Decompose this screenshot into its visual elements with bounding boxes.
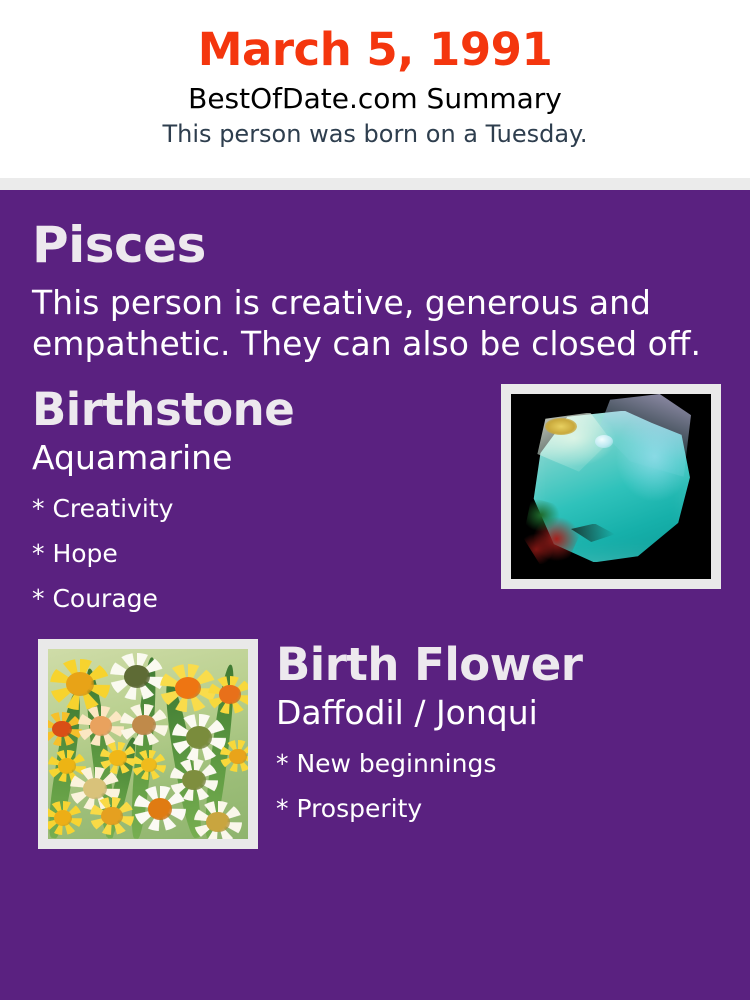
daffodil-bloom bbox=[160, 664, 216, 712]
birthstone-title: Birthstone bbox=[32, 384, 501, 436]
daffodil-bloom bbox=[134, 786, 186, 832]
birthstone-text-column: Birthstone Aquamarine * Creativity * Hop… bbox=[0, 384, 501, 621]
daffodil-bloom bbox=[132, 750, 166, 780]
aquamarine-crystal-image bbox=[511, 394, 711, 579]
daffodil-bloom bbox=[172, 714, 226, 762]
birth-flower-title: Birth Flower bbox=[276, 639, 750, 691]
daffodil-bloom bbox=[78, 706, 124, 746]
site-name-subtitle: BestOfDate.com Summary bbox=[0, 80, 750, 118]
zodiac-section: Pisces This person is creative, generous… bbox=[0, 190, 750, 364]
crystal-bubble-highlight bbox=[595, 435, 613, 448]
daffodil-bloom bbox=[110, 653, 164, 701]
list-item: * New beginnings bbox=[276, 741, 750, 786]
zodiac-sign-name: Pisces bbox=[32, 216, 720, 274]
summary-panel: Pisces This person is creative, generous… bbox=[0, 190, 750, 1000]
birth-flower-name: Daffodil / Jonqui bbox=[276, 693, 750, 733]
birth-flower-section: Birth Flower Daffodil / Jonqui * New beg… bbox=[0, 621, 750, 849]
daffodil-bloom bbox=[194, 801, 242, 839]
header-divider bbox=[0, 178, 750, 190]
weekday-note: This person was born on a Tuesday. bbox=[0, 118, 750, 150]
daffodil-bloom bbox=[120, 704, 168, 746]
birthstone-name: Aquamarine bbox=[32, 438, 501, 478]
zodiac-description: This person is creative, generous and em… bbox=[32, 282, 712, 364]
page-header: March 5, 1991 BestOfDate.com Summary Thi… bbox=[0, 0, 750, 178]
list-item: * Hope bbox=[32, 531, 501, 576]
birthstone-image-frame bbox=[501, 384, 721, 589]
crystal-gold-inclusion bbox=[545, 418, 577, 435]
daffodil-field-image bbox=[48, 649, 248, 839]
list-item: * Prosperity bbox=[276, 786, 750, 831]
daffodil-bloom bbox=[48, 801, 82, 835]
birth-flower-traits-list: * New beginnings * Prosperity bbox=[276, 741, 750, 831]
list-item: * Creativity bbox=[32, 486, 501, 531]
list-item: * Courage bbox=[32, 576, 501, 621]
birthstone-section: Birthstone Aquamarine * Creativity * Hop… bbox=[0, 364, 750, 621]
daffodil-bloom bbox=[90, 797, 134, 835]
birth-flower-text-column: Birth Flower Daffodil / Jonqui * New beg… bbox=[258, 639, 750, 831]
birth-flower-image-frame bbox=[38, 639, 258, 849]
page-title-date: March 5, 1991 bbox=[0, 22, 750, 78]
daffodil-bloom bbox=[208, 676, 248, 714]
daffodil-bloom bbox=[50, 659, 110, 710]
birthstone-traits-list: * Creativity * Hope * Courage bbox=[32, 486, 501, 621]
